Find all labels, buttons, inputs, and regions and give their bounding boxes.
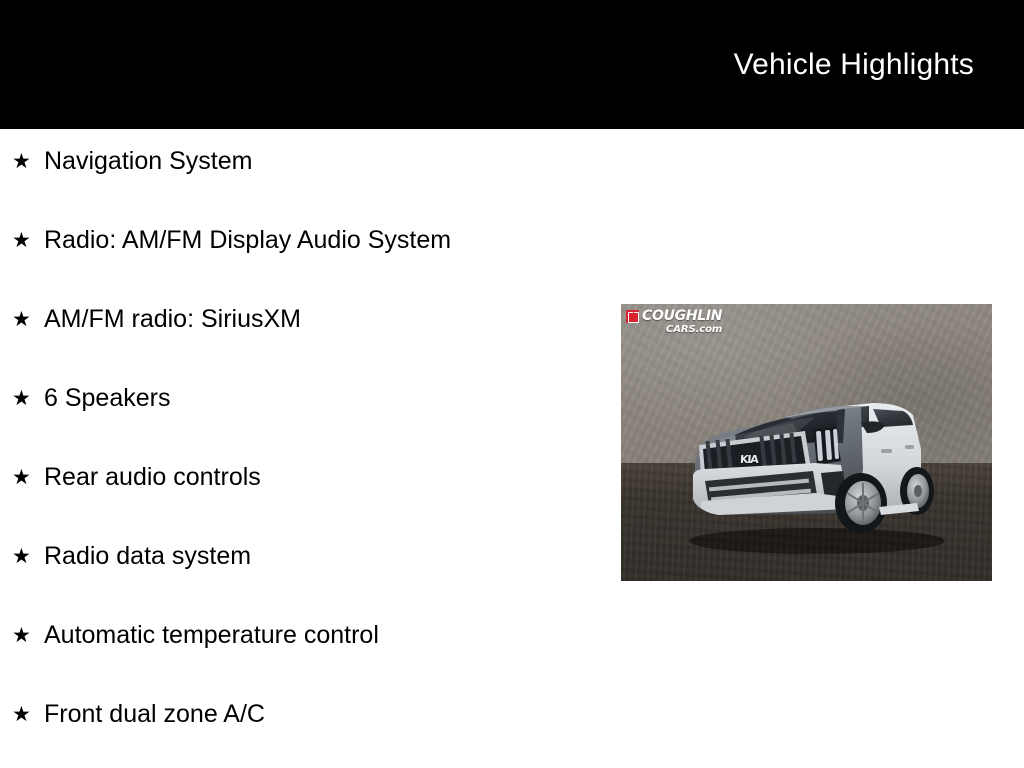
highlight-label: Navigation System	[34, 148, 620, 175]
highlight-label: Automatic temperature control	[34, 622, 620, 649]
list-item: ★ Rear audio controls	[0, 464, 620, 543]
dealer-watermark: COUGHLIN CARS.com	[626, 309, 722, 335]
star-bullet-icon: ★	[12, 622, 34, 649]
star-bullet-icon: ★	[12, 464, 34, 491]
list-item: ★ Automatic temperature control	[0, 622, 620, 701]
highlight-label: Radio: AM/FM Display Audio System	[34, 227, 620, 254]
list-item: ★ Radio data system	[0, 543, 620, 622]
star-bullet-icon: ★	[12, 385, 34, 412]
kia-badge: KIA	[740, 453, 758, 466]
watermark-text: COUGHLIN CARS.com	[642, 309, 722, 335]
watermark-brand: COUGHLIN	[642, 309, 722, 323]
list-item: ★ Radio: AM/FM Display Audio System	[0, 227, 620, 306]
coughlin-logo-icon	[626, 310, 639, 323]
star-bullet-icon: ★	[12, 148, 34, 175]
watermark-suffix: CARS.com	[642, 325, 722, 335]
list-item: ★ AM/FM radio: SiriusXM	[0, 306, 620, 385]
vehicle-highlights-page: Vehicle Highlights ★ Navigation System ★…	[0, 0, 1024, 768]
list-item: ★ Front dual zone A/C	[0, 701, 620, 768]
list-item: ★ 6 Speakers	[0, 385, 620, 464]
star-bullet-icon: ★	[12, 227, 34, 254]
vehicle-highlights-list: ★ Navigation System ★ Radio: AM/FM Displ…	[0, 129, 620, 768]
highlight-label: Radio data system	[34, 543, 620, 570]
highlight-label: Rear audio controls	[34, 464, 620, 491]
suv-illustration: KIA	[665, 357, 965, 557]
star-bullet-icon: ★	[12, 701, 34, 728]
vehicle-photo: COUGHLIN CARS.com	[621, 304, 992, 581]
highlight-label: AM/FM radio: SiriusXM	[34, 306, 620, 333]
star-bullet-icon: ★	[12, 306, 34, 333]
page-header: Vehicle Highlights	[0, 0, 1024, 129]
highlight-label: Front dual zone A/C	[34, 701, 620, 728]
list-item: ★ Navigation System	[0, 148, 620, 227]
star-bullet-icon: ★	[12, 543, 34, 570]
page-title: Vehicle Highlights	[734, 50, 974, 80]
highlight-label: 6 Speakers	[34, 385, 620, 412]
